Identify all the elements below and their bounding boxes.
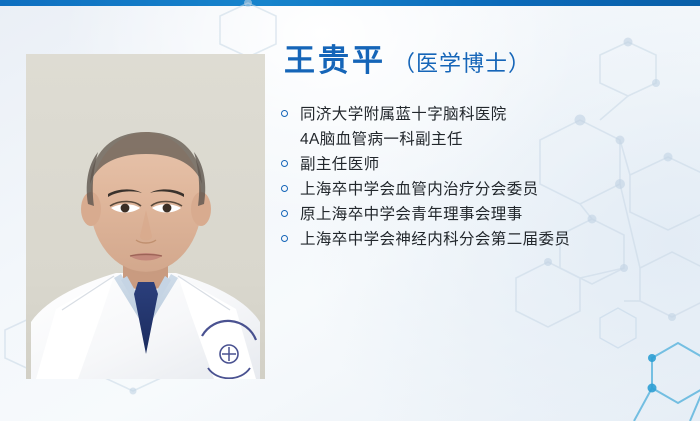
ring-bullet-icon (281, 110, 288, 117)
credentials-list: 同济大学附属蓝十字脑科医院 4A脑血管病一科副主任 副主任医师 上海卒中学会血管… (281, 102, 691, 252)
doctor-name: 王贵平 (284, 44, 386, 78)
list-item-line-1: 原上海卒中学会青年理事会理事 (300, 202, 691, 227)
list-item: 同济大学附属蓝十字脑科医院 4A脑血管病一科副主任 (281, 102, 691, 152)
list-item-line-2: 4A脑血管病一科副主任 (300, 127, 691, 152)
ring-bullet-icon (281, 210, 288, 217)
ring-bullet-icon (281, 185, 288, 192)
list-item-line-1: 副主任医师 (300, 152, 691, 177)
list-item: 上海卒中学会神经内科分会第二届委员 (281, 227, 691, 252)
portrait-photo (26, 54, 265, 379)
list-item: 原上海卒中学会青年理事会理事 (281, 202, 691, 227)
portrait-photo-illustration (26, 54, 265, 379)
slide-canvas: 王贵平 （医学博士） 同济大学附属蓝十字脑科医院 4A脑血管病一科副主任 副主任… (0, 0, 700, 421)
ring-bullet-icon (281, 235, 288, 242)
profile-info-block: 王贵平 （医学博士） 同济大学附属蓝十字脑科医院 4A脑血管病一科副主任 副主任… (281, 44, 691, 252)
doctor-credential: （医学博士） (393, 52, 531, 76)
list-item-line-1: 上海卒中学会血管内治疗分会委员 (300, 177, 691, 202)
list-item: 上海卒中学会血管内治疗分会委员 (281, 177, 691, 202)
list-item: 副主任医师 (281, 152, 691, 177)
name-row: 王贵平 （医学博士） (284, 44, 691, 78)
list-item-line-1: 上海卒中学会神经内科分会第二届委员 (300, 227, 691, 252)
list-item-line-1: 同济大学附属蓝十字脑科医院 (300, 102, 691, 127)
ring-bullet-icon (281, 160, 288, 167)
